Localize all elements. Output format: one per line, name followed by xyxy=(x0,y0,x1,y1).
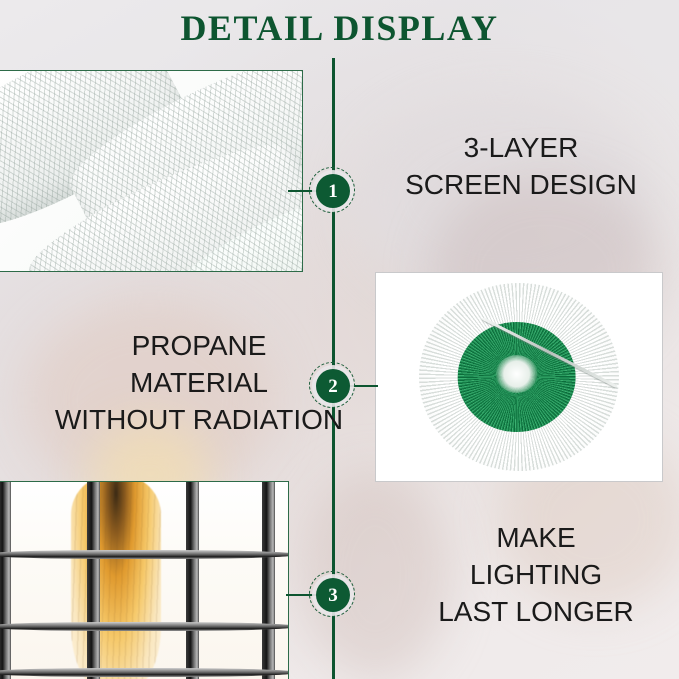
mantle-green-core xyxy=(458,322,576,432)
cage-post xyxy=(262,482,275,679)
feature-caption-lighting-last-longer: MAKE LIGHTING LAST LONGER xyxy=(398,520,674,631)
feature-caption-screen-design: 3-LAYER SCREEN DESIGN xyxy=(376,130,666,204)
caption-line: LAST LONGER xyxy=(398,594,674,631)
caption-line: PROPANE xyxy=(54,328,344,365)
caption-line: LIGHTING xyxy=(398,557,674,594)
feature-image-screen-design xyxy=(0,70,303,272)
timeline-node-number: 1 xyxy=(328,182,338,201)
cage-post xyxy=(0,482,11,679)
caption-line: MAKE xyxy=(398,520,674,557)
timeline-node-2[interactable]: 2 xyxy=(316,369,350,403)
timeline-node-3[interactable]: 3 xyxy=(316,578,350,612)
feature-image-propane-material xyxy=(375,272,663,482)
caption-line: WITHOUT RADIATION xyxy=(54,402,344,439)
burning-mantle-photo xyxy=(0,482,288,679)
cage-ring xyxy=(0,668,289,677)
mantle-outer-mesh xyxy=(419,283,619,471)
mesh-netting-photo xyxy=(0,71,302,271)
caption-line: 3-LAYER xyxy=(376,130,666,167)
detail-display-page: DETAIL DISPLAY xyxy=(0,0,679,679)
timeline-node-number: 2 xyxy=(328,377,338,396)
cage-ring xyxy=(0,550,289,559)
cage-post xyxy=(186,482,199,679)
feature-caption-propane-material: PROPANE MATERIAL WITHOUT RADIATION xyxy=(54,328,344,439)
caption-line: MATERIAL xyxy=(54,365,344,402)
timeline-node-number: 3 xyxy=(328,586,338,605)
feature-image-lighting-last-longer xyxy=(0,481,289,679)
glowing-mantle xyxy=(71,481,161,679)
timeline-node-1[interactable]: 1 xyxy=(316,174,350,208)
cage-ring xyxy=(0,622,289,631)
mantle-disc-photo xyxy=(376,273,662,481)
page-title: DETAIL DISPLAY xyxy=(0,7,679,49)
cage-post xyxy=(87,482,100,679)
caption-line: SCREEN DESIGN xyxy=(376,167,666,204)
